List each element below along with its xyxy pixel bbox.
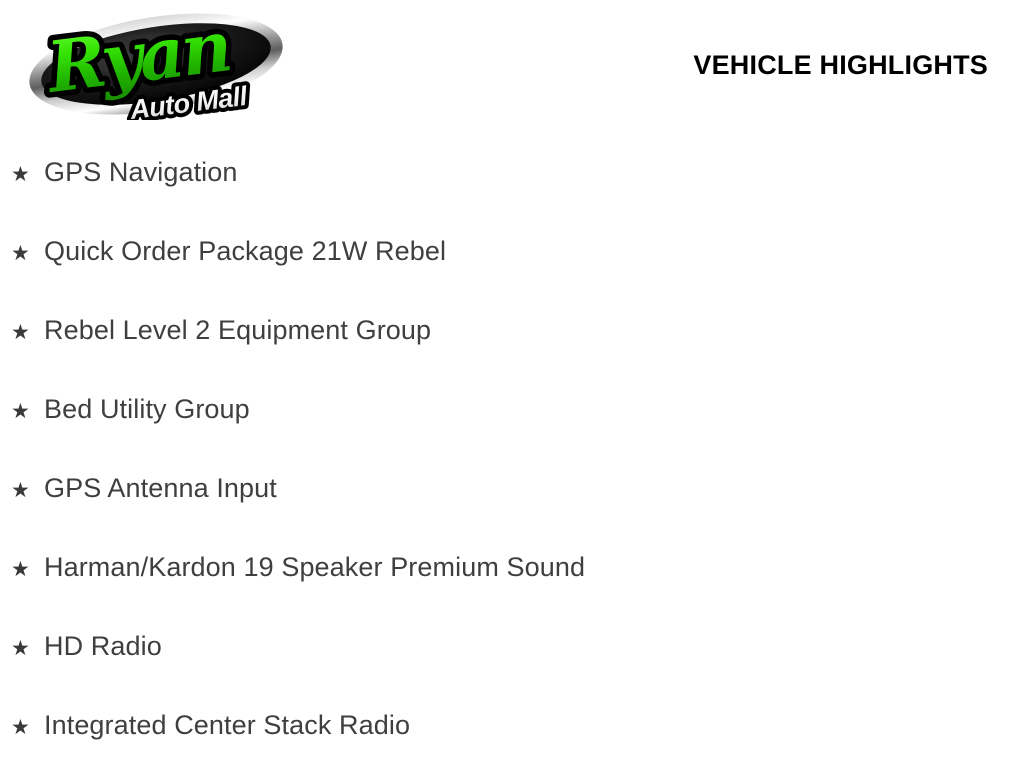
highlight-label: Rebel Level 2 Equipment Group <box>44 308 431 352</box>
list-item: ★HD Radio <box>0 624 1024 703</box>
star-bullet-icon: ★ <box>11 232 44 276</box>
star-bullet-icon: ★ <box>11 311 44 355</box>
highlight-label: HD Radio <box>44 624 162 668</box>
highlight-label: Quick Order Package 21W Rebel <box>44 229 446 273</box>
list-item: ★Quick Order Package 21W Rebel <box>0 229 1024 308</box>
list-item: ★Rebel Level 2 Equipment Group <box>0 308 1024 387</box>
highlight-label: Integrated Center Stack Radio <box>44 703 410 747</box>
highlight-label: Bed Utility Group <box>44 387 250 431</box>
star-bullet-icon: ★ <box>11 390 44 434</box>
vehicle-highlights-list: ★GPS Navigation★Quick Order Package 21W … <box>0 150 1024 782</box>
list-item: ★GPS Antenna Input <box>0 466 1024 545</box>
star-bullet-icon: ★ <box>11 469 44 513</box>
list-item: ★Harman/Kardon 19 Speaker Premium Sound <box>0 545 1024 624</box>
star-bullet-icon: ★ <box>11 627 44 671</box>
list-item: ★Integrated Center Stack Radio <box>0 703 1024 782</box>
page-title: VEHICLE HIGHLIGHTS <box>693 50 988 81</box>
list-item: ★Bed Utility Group <box>0 387 1024 466</box>
page-header: Ryan Ryan Auto Mall Auto Mall VEHICLE HI… <box>0 0 1024 132</box>
highlight-label: GPS Antenna Input <box>44 466 277 510</box>
star-bullet-icon: ★ <box>11 706 44 750</box>
star-bullet-icon: ★ <box>11 548 44 592</box>
list-item: ★GPS Navigation <box>0 150 1024 229</box>
highlight-label: GPS Navigation <box>44 150 238 194</box>
ryan-auto-mall-logo-icon: Ryan Ryan Auto Mall Auto Mall <box>18 8 294 120</box>
highlight-label: Harman/Kardon 19 Speaker Premium Sound <box>44 545 585 589</box>
dealer-logo: Ryan Ryan Auto Mall Auto Mall <box>18 8 294 120</box>
star-bullet-icon: ★ <box>11 153 44 197</box>
